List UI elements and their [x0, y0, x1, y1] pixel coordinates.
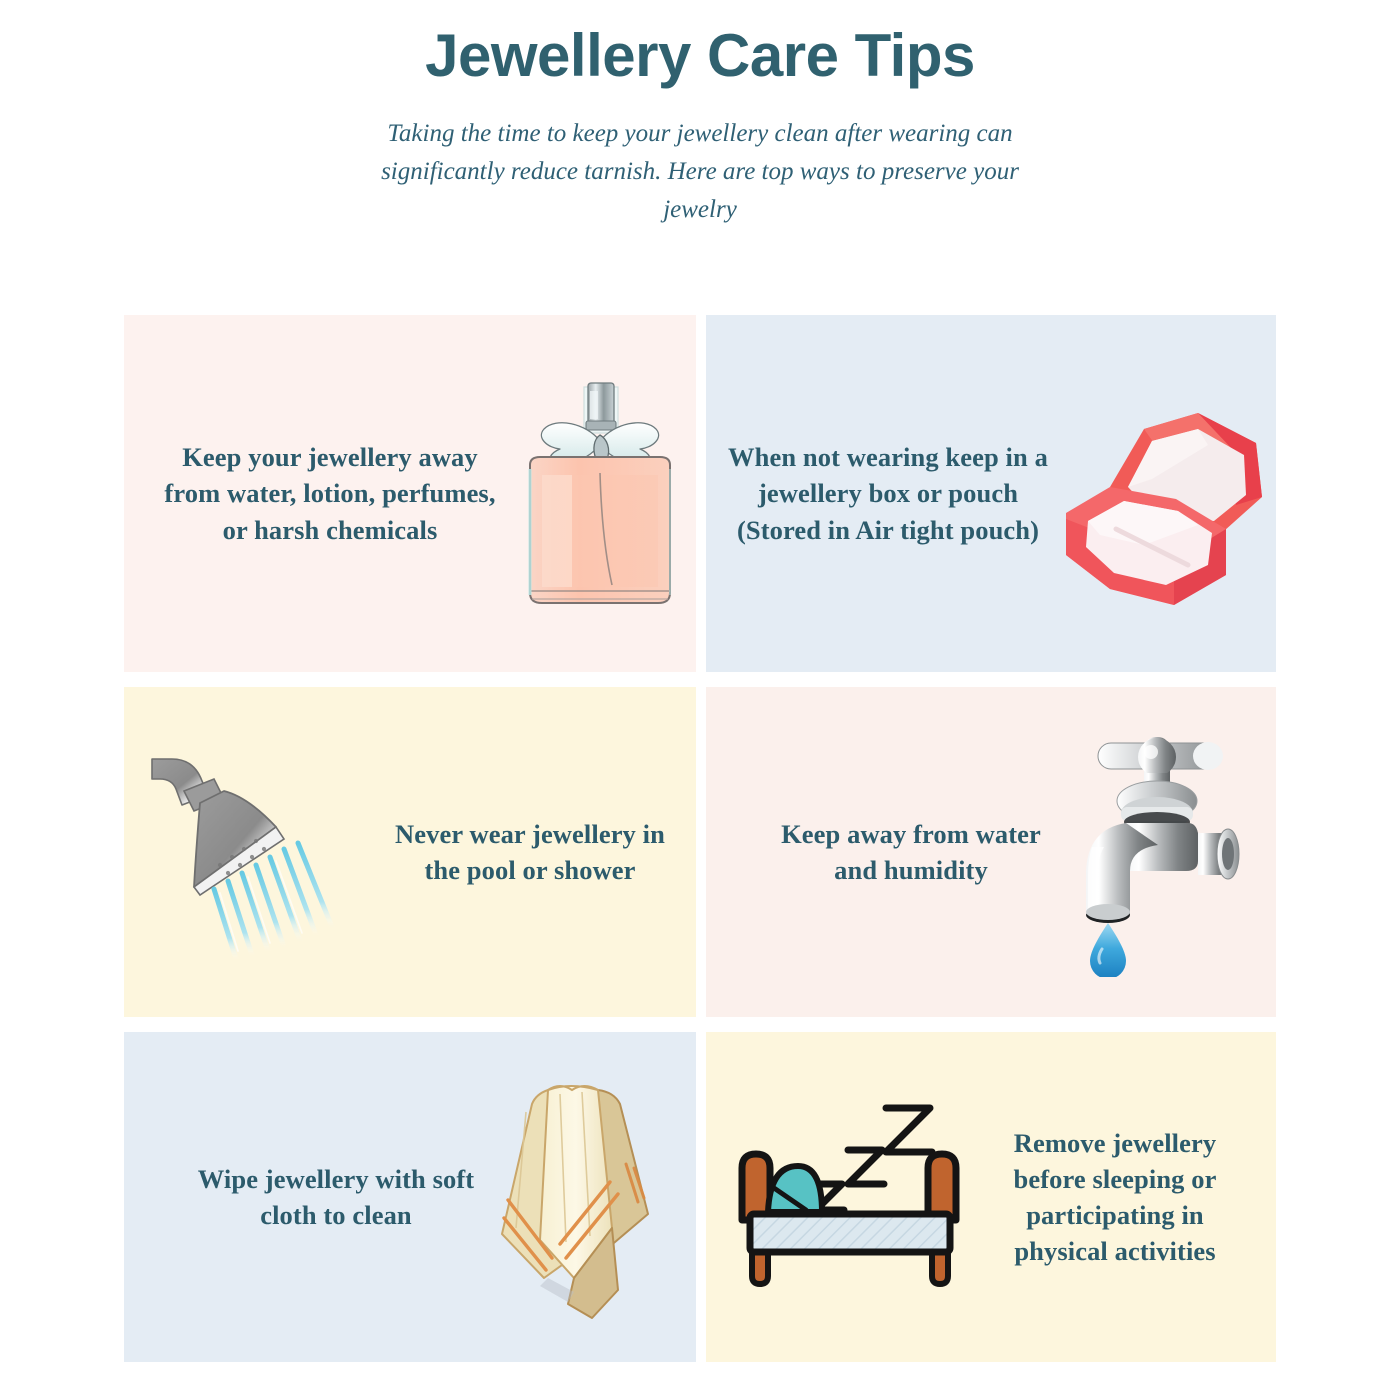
tip-card-faucet[interactable]: Keep away from water and humidity [706, 687, 1276, 1017]
tip-text-shower: Never wear jewellery in the pool or show… [380, 816, 680, 888]
tip-card-box[interactable]: When not wearing keep in a jewellery box… [706, 315, 1276, 672]
tip-card-cloth[interactable]: Wipe jewellery with soft cloth to clean [124, 1032, 696, 1362]
tips-grid: Keep your jewellery away from water, lot… [124, 315, 1276, 1362]
perfume-bottle-icon [500, 369, 696, 619]
shower-head-icon [124, 737, 380, 967]
tip-text-cloth: Wipe jewellery with soft cloth to clean [186, 1161, 486, 1233]
tip-text-box: When not wearing keep in a jewellery box… [728, 439, 1048, 547]
tip-text-faucet: Keep away from water and humidity [766, 816, 1056, 888]
soft-cloth-icon [486, 1072, 696, 1322]
faucet-drip-icon [1056, 727, 1276, 977]
jewellery-box-icon [1048, 379, 1276, 609]
tip-card-perfume[interactable]: Keep your jewellery away from water, lot… [124, 315, 696, 672]
tip-card-shower[interactable]: Never wear jewellery in the pool or show… [124, 687, 696, 1017]
tip-text-bed: Remove jewellery before sleeping or part… [980, 1125, 1250, 1269]
page-header: Jewellery Care Tips Taking the time to k… [0, 0, 1400, 229]
page-title: Jewellery Care Tips [0, 22, 1400, 89]
page-subtitle: Taking the time to keep your jewellery c… [380, 115, 1020, 229]
tip-text-perfume: Keep your jewellery away from water, lot… [160, 439, 500, 547]
tip-card-bed[interactable]: Remove jewellery before sleeping or part… [706, 1032, 1276, 1362]
bed-sleep-icon [706, 1092, 980, 1302]
